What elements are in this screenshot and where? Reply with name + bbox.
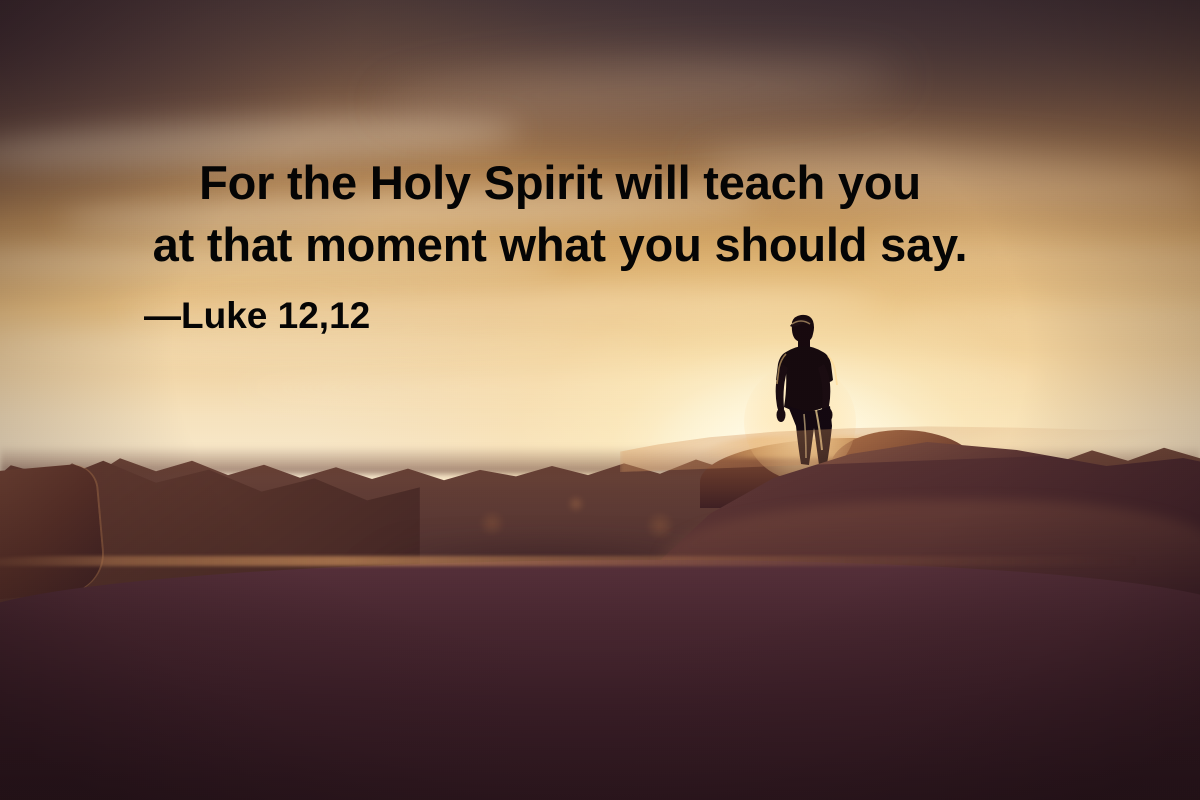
- quote-attribution: —Luke 12,12: [144, 294, 370, 338]
- film-grain: [0, 0, 1200, 800]
- quote-line-1: For the Holy Spirit will teach you: [0, 152, 1120, 214]
- quote-image: For the Holy Spirit will teach you at th…: [0, 0, 1200, 800]
- quote-line-2: at that moment what you should say.: [0, 214, 1120, 276]
- quote-text-block: For the Holy Spirit will teach you at th…: [0, 152, 1120, 276]
